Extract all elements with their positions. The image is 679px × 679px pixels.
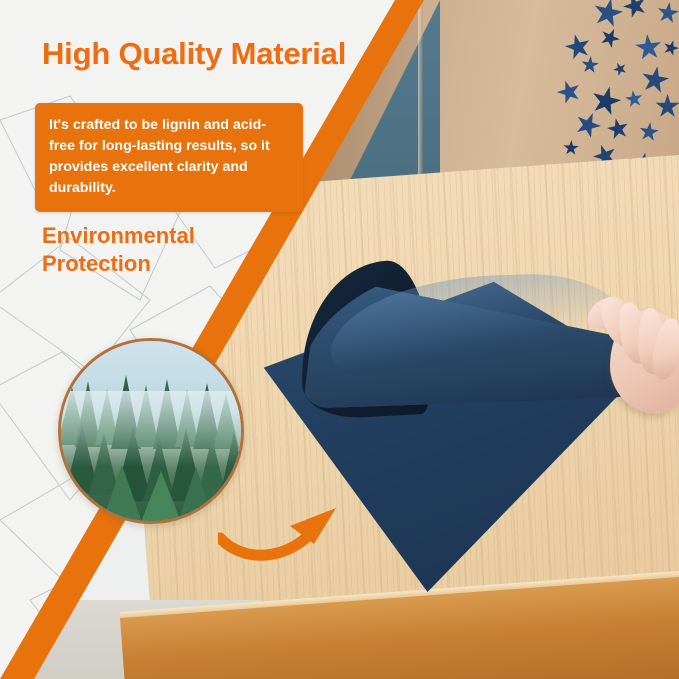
feature-callout-box: It's crafted to be lignin and acid-free … — [35, 103, 303, 212]
subheading: Environmental Protection — [42, 222, 195, 278]
forest-mist — [61, 391, 241, 467]
subheading-line-2: Protection — [42, 250, 195, 278]
forest-circle-photo — [58, 338, 244, 524]
page-title: High Quality Material — [42, 36, 346, 72]
hand-lifting-sheet — [586, 296, 679, 431]
product-marketing-poster: High Quality Material It's crafted to be… — [0, 0, 679, 679]
curved-arrow-icon — [218, 486, 358, 566]
subheading-line-1: Environmental — [42, 222, 195, 250]
